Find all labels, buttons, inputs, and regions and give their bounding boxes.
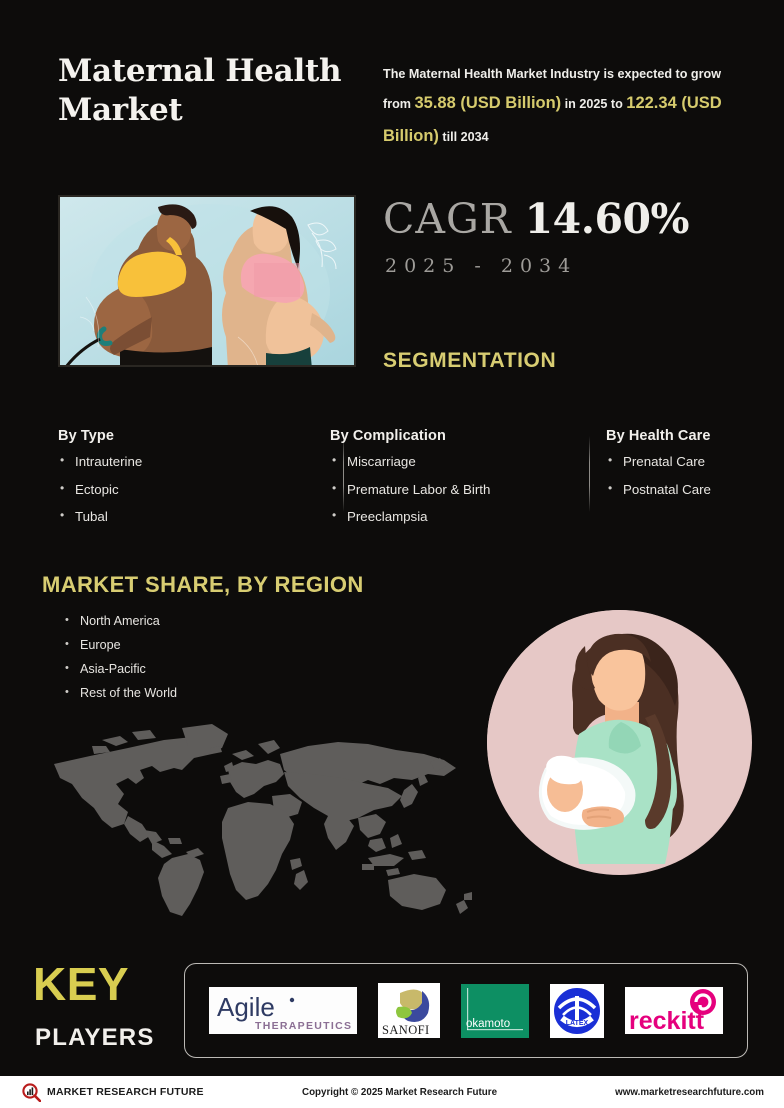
list-item: Postnatal Care [606,483,784,498]
key-players-heading-top: KEY [33,961,129,1007]
column-title: By Health Care [606,428,784,444]
column-title: By Complication [330,428,580,444]
sanofi-logo: SANOFI [378,983,440,1038]
cagr-label: CAGR [383,195,512,243]
agile-therapeutics-logo-icon: Agile THERAPEUTICS [209,987,357,1034]
okamoto-logo: okamoto [461,984,529,1038]
market-research-future-logo-icon [22,1083,41,1102]
reckitt-logo: reckitt [625,987,723,1034]
footer-brand: MARKET RESEARCH FUTURE [22,1083,204,1102]
footer: MARKET RESEARCH FUTURE Copyright © 2025 … [0,1076,784,1108]
summary-part-2: in 2025 to [561,97,626,111]
sanofi-logo-icon: SANOFI [378,983,440,1038]
segmentation-column-type: By Type Intrauterine Ectopic Tubal [58,428,318,538]
mother-baby-illustration [487,610,752,875]
hero-illustration [58,195,356,367]
list-item: Europe [62,639,177,653]
column-title: By Type [58,428,318,444]
list-item: Intrauterine [58,455,318,470]
list-item: Rest of the World [62,687,177,701]
list-item: Ectopic [58,483,318,498]
svg-text:Agile: Agile [217,992,275,1022]
list-item: Asia-Pacific [62,663,177,677]
list-item: Premature Labor & Birth [330,483,580,498]
list-item: Preeclampsia [330,510,580,525]
market-share-heading: MARKET SHARE, BY REGION [42,572,364,598]
svg-text:THERAPEUTICS: THERAPEUTICS [255,1020,352,1032]
list-item: Miscarriage [330,455,580,470]
market-share-region-list: North America Europe Asia-Pacific Rest o… [62,615,177,710]
world-map-icon [32,712,484,917]
cagr-block: CAGR 14.60% [383,198,689,241]
pregnant-women-illustration [60,197,356,367]
mother-holding-baby-icon [487,610,752,875]
page-title: Maternal Health Market [58,52,388,130]
segmentation-heading: SEGMENTATION [383,349,556,373]
svg-text:SANOFI: SANOFI [382,1023,430,1037]
key-players-logo-box: Agile THERAPEUTICS SANOFI okamoto [184,963,748,1058]
column-list: Miscarriage Premature Labor & Birth Pree… [330,455,580,525]
svg-text:okamoto: okamoto [466,1018,510,1030]
segmentation-columns: By Type Intrauterine Ectopic Tubal By Co… [58,428,748,540]
reckitt-logo-icon: reckitt [625,987,723,1034]
footer-copyright: Copyright © 2025 Market Research Future [302,1087,497,1098]
okamoto-logo-icon: okamoto [461,984,529,1038]
footer-brand-text: MARKET RESEARCH FUTURE [47,1086,204,1098]
list-item: North America [62,615,177,629]
world-map [32,712,484,917]
fuji-latex-logo-icon: LATEX [550,984,604,1038]
value-2025: 35.88 (USD Billion) [414,94,561,112]
cagr-years: 2025 - 2034 [385,255,577,277]
market-summary-text: The Maternal Health Market Industry is e… [383,62,723,153]
column-list: Prenatal Care Postnatal Care [606,455,784,497]
agile-therapeutics-logo: Agile THERAPEUTICS [209,987,357,1034]
list-item: Tubal [58,510,318,525]
fuji-latex-logo: LATEX [550,984,604,1038]
svg-text:LATEX: LATEX [566,1020,589,1027]
summary-part-3: till 2034 [439,130,489,144]
cagr-value: 14.60% [525,195,689,243]
footer-website[interactable]: www.marketresearchfuture.com [615,1087,764,1098]
segmentation-column-health-care: By Health Care Prenatal Care Postnatal C… [606,428,784,510]
segmentation-column-complication: By Complication Miscarriage Premature La… [330,428,580,538]
svg-text:reckitt: reckitt [629,1007,705,1034]
column-list: Intrauterine Ectopic Tubal [58,455,318,525]
list-item: Prenatal Care [606,455,784,470]
column-divider [589,436,590,512]
key-players-heading-bottom: PLAYERS [35,1026,155,1050]
infographic-page: Maternal Health Market The Maternal Heal… [0,0,784,1108]
